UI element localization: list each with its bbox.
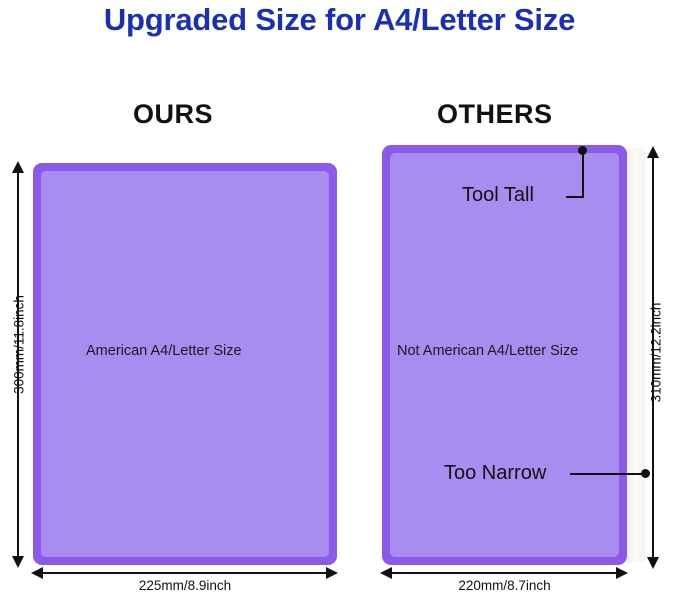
arrow-up-icon — [12, 161, 24, 173]
folder-ours-label: American A4/Letter Size — [86, 343, 242, 359]
callout-too-tall-leader-horizontal — [566, 196, 584, 198]
arrow-up-icon — [647, 146, 659, 158]
arrow-down-icon — [12, 556, 24, 568]
column-heading-ours: OURS — [133, 99, 213, 130]
callout-too-tall-label: Tool Tall — [462, 184, 534, 207]
dimension-label-ours-width: 225mm/8.9inch — [33, 578, 337, 593]
arrow-down-icon — [647, 557, 659, 569]
callout-too-tall-leader-vertical — [582, 150, 584, 197]
callout-too-narrow-leader-horizontal — [570, 473, 646, 475]
column-heading-others: OTHERS — [437, 99, 553, 130]
callout-too-narrow-label: Too Narrow — [444, 462, 546, 485]
folder-others-label: Not American A4/Letter Size — [397, 343, 578, 359]
folder-others-back-flap — [627, 148, 645, 563]
page-title: Upgraded Size for A4/Letter Size — [0, 2, 679, 38]
folder-ours — [33, 163, 337, 565]
dimension-label-ours-height: 300mm/11.8inch — [12, 285, 27, 405]
folder-ours-inner-panel — [41, 171, 329, 557]
dimension-label-others-height: 310mm/12.2inch — [649, 293, 664, 413]
callout-too-narrow-dot — [641, 469, 650, 478]
dimension-line-others-width — [389, 572, 620, 574]
dimension-label-others-width: 220mm/8.7inch — [382, 578, 627, 593]
dimension-line-ours-width — [40, 572, 330, 574]
